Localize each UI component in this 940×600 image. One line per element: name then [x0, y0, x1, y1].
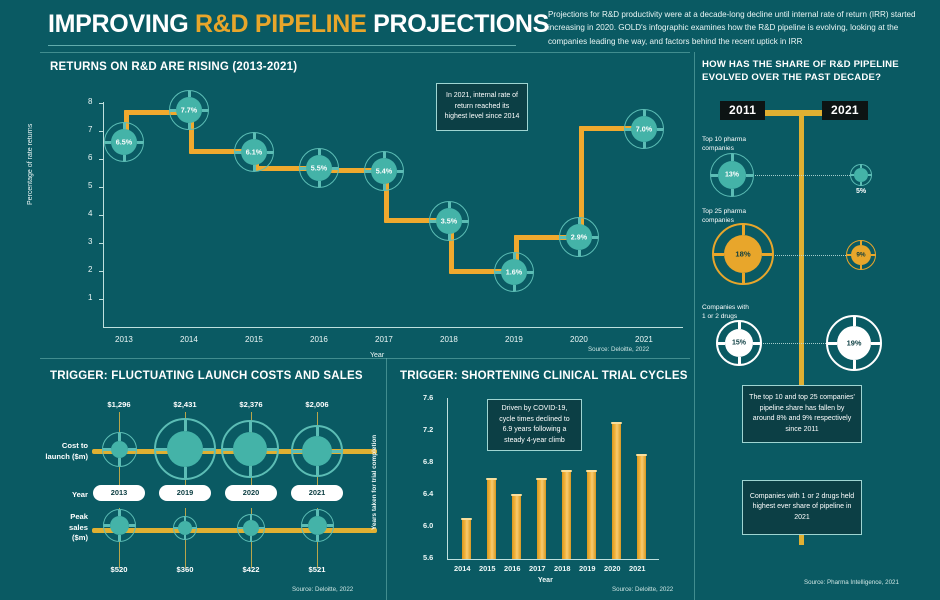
x-axis	[103, 327, 683, 328]
bubble-top25-2011[interactable]: 18%	[712, 223, 774, 285]
bm-y-tick-5.6: 5.6	[423, 553, 433, 562]
trial-cycles-source: Source: Deloitte, 2022	[612, 586, 673, 593]
marker-tick-s	[118, 458, 121, 466]
bar-cap-2020	[611, 422, 622, 424]
marker-core	[233, 432, 267, 466]
marker-tick-s	[448, 234, 451, 240]
marker-core	[110, 516, 129, 535]
x-tick-2014: 2014	[180, 335, 198, 344]
y-tick-mark-4	[99, 215, 103, 216]
data-label-2018: 3.5%	[429, 217, 469, 226]
trial-cycles-title: TRIGGER: SHORTENING CLINICAL TRIAL CYCLE…	[400, 370, 688, 382]
marker-tick-n	[448, 202, 451, 208]
data-label-2021: 7.0%	[624, 125, 664, 134]
connector-onetwo	[760, 343, 836, 344]
bubble-top10-2011[interactable]: 13%	[710, 153, 754, 197]
y-tick-4: 4	[88, 209, 92, 218]
marker-core	[302, 436, 332, 466]
marker-tick-s	[318, 181, 321, 187]
launch-costs-panel: TRIGGER: FLUCTUATING LAUNCH COSTS AND SA…	[40, 362, 385, 600]
bm-x-tick-2018: 2018	[554, 564, 570, 573]
marker-tick-s	[118, 535, 121, 541]
bm-x-tick-2014: 2014	[454, 564, 470, 573]
marker-tick-s	[184, 467, 187, 479]
y-tick-mark-2	[99, 271, 103, 272]
row-label-sales: Peak sales ($m)	[22, 512, 88, 544]
data-label-2020: 2.9%	[559, 233, 599, 242]
year-chip-2021: 2021	[822, 101, 868, 120]
marker-tick-n	[250, 514, 252, 520]
marker-tick-s	[316, 535, 319, 541]
x-tick-2016: 2016	[310, 335, 328, 344]
data-point-2015[interactable]: 6.1%	[234, 132, 274, 172]
marker-tick-s	[249, 466, 252, 477]
cost-bubble-2021[interactable]	[291, 425, 343, 477]
main-chart-source: Source: Deloitte, 2022	[588, 346, 649, 353]
bubble-onetwo-2021[interactable]: 19%	[826, 315, 882, 371]
title-text-1: IMPROVING	[48, 10, 195, 38]
marker-tick-s	[250, 536, 252, 542]
marker-tick-s	[738, 357, 741, 365]
x-tick-2017: 2017	[375, 335, 393, 344]
marker-tick-n	[316, 426, 319, 436]
marker-tick-e	[332, 450, 342, 453]
data-label-2016: 5.5%	[299, 164, 339, 173]
bm-y-tick-6.8: 6.8	[423, 457, 433, 466]
bubble-top25-2021[interactable]: 9%	[846, 240, 876, 270]
sales-label-2021: $521	[287, 565, 347, 574]
bubble-top10-2021[interactable]	[850, 164, 872, 186]
value-top25-2021: 9%	[846, 252, 876, 259]
marker-tick-n	[860, 240, 862, 245]
data-point-2016[interactable]: 5.5%	[299, 148, 339, 188]
row-label-year: Year	[22, 490, 88, 501]
year-pill-2013[interactable]: 2013	[93, 485, 145, 501]
y-tick-3: 3	[88, 237, 92, 246]
marker-tick-s	[853, 360, 856, 370]
sales-label-2020: $422	[221, 565, 281, 574]
x-tick-2018: 2018	[440, 335, 458, 344]
category-label-top25-line2: companies	[702, 216, 734, 226]
marker-tick-s	[860, 265, 862, 270]
marker-tick-n	[643, 110, 646, 116]
bubble-onetwo-2011[interactable]: 15%	[716, 320, 762, 366]
marker-tick-s	[731, 189, 734, 196]
marker-tick-e	[868, 174, 872, 176]
connector-top25	[770, 255, 858, 256]
y-tick-mark-5	[99, 187, 103, 188]
row-label-cost: Cost to launch ($m)	[22, 441, 88, 462]
title-text-gold: R&D PIPELINE	[195, 10, 366, 38]
marker-tick-n	[383, 152, 386, 158]
right-panel-title-line1: HOW HAS THE SHARE OF R&D PIPELINE	[702, 59, 899, 70]
y-axis-title: Percentage of rate returns	[27, 124, 34, 205]
bar-cap-2016	[511, 494, 522, 496]
bm-y-tick-7.6: 7.6	[423, 393, 433, 402]
marker-core	[167, 431, 203, 467]
marker-tick-s	[253, 165, 256, 171]
marker-tick-n	[118, 433, 121, 441]
marker-core	[854, 168, 868, 182]
marker-tick-w	[302, 524, 308, 527]
page-title: IMPROVING R&D PIPELINE PROJECTIONS	[48, 10, 549, 39]
cost-label-2020: $2,376	[221, 400, 281, 409]
bar-2015[interactable]	[487, 479, 496, 559]
marker-tick-e	[128, 448, 136, 451]
marker-tick-s	[513, 285, 516, 291]
bar-cap-2018	[561, 470, 572, 472]
bm-x-tick-2017: 2017	[529, 564, 545, 573]
x-axis-title: Year	[370, 352, 384, 359]
cost-bubble-2019[interactable]	[154, 418, 216, 480]
x-tick-2019: 2019	[505, 335, 523, 344]
data-label-2014: 7.7%	[169, 106, 209, 115]
y-tick-8: 8	[88, 97, 92, 106]
main-chart-callout: In 2021, internal rate of return reached…	[436, 83, 528, 131]
marker-tick-n	[253, 133, 256, 139]
right-panel-title-line2: EVOLVED OVER THE PAST DECADE?	[702, 72, 881, 83]
marker-tick-s	[383, 184, 386, 190]
marker-tick-s	[578, 250, 581, 256]
marker-tick-w	[155, 448, 167, 451]
marker-tick-w	[222, 448, 233, 451]
y-tick-6: 6	[88, 153, 92, 162]
year-chip-2011: 2011	[720, 101, 765, 120]
marker-tick-s	[742, 273, 745, 284]
data-point-2021[interactable]: 7.0%	[624, 109, 664, 149]
bm-x-tick-2016: 2016	[504, 564, 520, 573]
marker-tick-s	[188, 123, 191, 129]
value-top25-2011: 18%	[712, 250, 774, 259]
y-tick-mark-8	[99, 103, 103, 104]
x-tick-2015: 2015	[245, 335, 263, 344]
bar-cap-2019	[586, 470, 597, 472]
marker-tick-e	[203, 448, 215, 451]
bm-x-tick-2015: 2015	[479, 564, 495, 573]
bm-y-axis-title: Years taken for trial completion	[371, 435, 378, 530]
data-point-2013[interactable]: 6.5%	[104, 122, 144, 162]
bm-y-axis	[447, 398, 448, 560]
value-onetwo-2011: 15%	[716, 340, 762, 347]
bar-cap-2021	[636, 454, 647, 456]
data-point-2018[interactable]: 3.5%	[429, 201, 469, 241]
connector-top10	[748, 175, 860, 176]
marker-tick-s	[123, 155, 126, 161]
cost-label-2021: $2,006	[287, 400, 347, 409]
bar-2019[interactable]	[587, 471, 596, 559]
marker-tick-n	[731, 154, 734, 161]
marker-tick-w	[237, 527, 243, 529]
bm-y-tick-6.0: 6.0	[423, 521, 433, 530]
cost-bubble-2013[interactable]	[102, 432, 137, 467]
data-point-2019[interactable]: 1.6%	[494, 252, 534, 292]
y-tick-7: 7	[88, 125, 92, 134]
marker-tick-w	[104, 524, 110, 527]
data-point-2014[interactable]: 7.7%	[169, 90, 209, 130]
marker-tick-w	[173, 527, 178, 529]
marker-tick-s	[316, 466, 319, 476]
marker-tick-w	[292, 450, 302, 453]
value-top10-2011: 13%	[710, 172, 754, 179]
main-line-chart-panel: RETURNS ON R&D ARE RISING (2013-2021) 8 …	[40, 55, 690, 360]
marker-tick-s	[643, 142, 646, 148]
sales-bubble-2020[interactable]	[237, 514, 265, 542]
bar-2016[interactable]	[512, 495, 521, 559]
y-tick-mark-7	[99, 131, 103, 132]
marker-tick-n	[316, 510, 319, 516]
data-label-2013: 6.5%	[104, 138, 144, 147]
divider-top	[40, 52, 690, 53]
sales-label-2013: $520	[89, 565, 149, 574]
title-text-2: PROJECTIONS	[366, 10, 549, 38]
y-tick-5: 5	[88, 181, 92, 190]
cost-label-2019: $2,431	[155, 400, 215, 409]
cost-bubble-2020[interactable]	[221, 420, 279, 478]
intro-paragraph: Projections for R&D productivity were at…	[548, 8, 934, 48]
x-tick-2020: 2020	[570, 335, 588, 344]
marker-tick-s	[860, 182, 862, 186]
value-top10-2021: 5%	[844, 188, 878, 195]
data-point-2020[interactable]: 2.9%	[559, 217, 599, 257]
year-pill-2019[interactable]: 2019	[159, 485, 211, 501]
marker-tick-e	[267, 448, 278, 451]
main-chart-title: RETURNS ON R&D ARE RISING (2013-2021)	[50, 61, 297, 73]
data-label-2015: 6.1%	[234, 148, 274, 157]
marker-tick-n	[742, 224, 745, 235]
bar-cap-2015	[486, 478, 497, 480]
marker-tick-n	[188, 91, 191, 97]
marker-tick-n	[318, 149, 321, 155]
marker-tick-n	[184, 516, 186, 521]
marker-core	[111, 441, 128, 458]
bm-x-axis-title: Year	[538, 577, 553, 584]
data-label-2017: 5.4%	[364, 167, 404, 176]
marker-tick-w	[850, 174, 854, 176]
bar-2018[interactable]	[562, 471, 571, 559]
right-panel-note-2: Companies with 1 or 2 drugs held highest…	[742, 480, 862, 535]
marker-tick-n	[123, 123, 126, 129]
bar-2017[interactable]	[537, 479, 546, 559]
launch-costs-title: TRIGGER: FLUCTUATING LAUNCH COSTS AND SA…	[50, 370, 363, 382]
year-pill-2021[interactable]: 2021	[291, 485, 343, 501]
marker-tick-n	[738, 321, 741, 329]
bm-y-tick-6.4: 6.4	[423, 489, 433, 498]
marker-tick-n	[118, 510, 121, 516]
marker-tick-e	[129, 524, 135, 527]
marker-core	[308, 516, 327, 535]
marker-tick-n	[578, 218, 581, 224]
sales-bubble-2021[interactable]	[301, 509, 334, 542]
marker-tick-n	[513, 253, 516, 259]
marker-tick-e	[327, 524, 333, 527]
marker-tick-n	[860, 164, 862, 168]
header: IMPROVING R&D PIPELINE PROJECTIONS Proje…	[0, 0, 940, 52]
bm-y-tick-7.2: 7.2	[423, 425, 433, 434]
bm-x-tick-2020: 2020	[604, 564, 620, 573]
marker-tick-w	[103, 448, 111, 451]
y-tick-mark-6	[99, 159, 103, 160]
bm-x-axis	[447, 559, 659, 560]
x-tick-2021: 2021	[635, 335, 653, 344]
launch-costs-source: Source: Deloitte, 2022	[292, 586, 353, 593]
marker-tick-n	[184, 419, 187, 431]
data-label-2019: 1.6%	[494, 268, 534, 277]
bar-cap-2014	[461, 518, 472, 520]
marker-tick-n	[249, 421, 252, 432]
divider-bottom-vertical	[386, 358, 387, 600]
bm-x-tick-2021: 2021	[629, 564, 645, 573]
marker-tick-e	[192, 527, 197, 529]
y-tick-mark-3	[99, 243, 103, 244]
trial-cycles-panel: TRIGGER: SHORTENING CLINICAL TRIAL CYCLE…	[390, 362, 695, 600]
bm-x-tick-2019: 2019	[579, 564, 595, 573]
bar-cap-2017	[536, 478, 547, 480]
right-panel: HOW HAS THE SHARE OF R&D PIPELINE EVOLVE…	[698, 55, 940, 600]
sales-bubble-2019[interactable]	[173, 516, 197, 540]
y-tick-1: 1	[88, 293, 92, 302]
value-onetwo-2021: 19%	[826, 339, 882, 348]
y-tick-2: 2	[88, 265, 92, 274]
data-point-2017[interactable]: 5.4%	[364, 151, 404, 191]
title-underline	[48, 45, 516, 46]
marker-core	[178, 521, 192, 535]
year-pill-2020[interactable]: 2020	[225, 485, 277, 501]
marker-tick-e	[259, 527, 265, 529]
bar-2014[interactable]	[462, 519, 471, 559]
marker-tick-n	[853, 316, 856, 326]
bar-2020[interactable]	[612, 423, 621, 559]
right-panel-source: Source: Pharma Intelligence, 2021	[804, 579, 899, 586]
sales-label-2019: $360	[155, 565, 215, 574]
marker-tick-s	[184, 535, 186, 540]
x-tick-2013: 2013	[115, 335, 133, 344]
cost-label-2013: $1,296	[89, 400, 149, 409]
y-tick-mark-1	[99, 299, 103, 300]
marker-core	[243, 520, 259, 536]
bar-2021[interactable]	[637, 455, 646, 559]
trial-cycles-callout: Driven by COVID-19, cycle times declined…	[487, 399, 582, 451]
sales-bubble-2013[interactable]	[103, 509, 136, 542]
right-panel-note-1: The top 10 and top 25 companies' pipelin…	[742, 385, 862, 443]
